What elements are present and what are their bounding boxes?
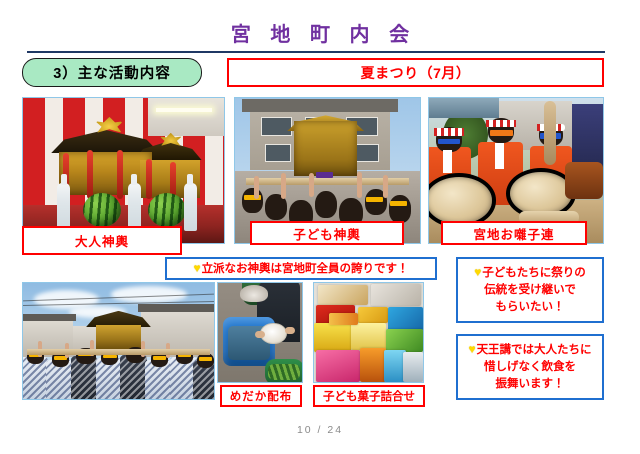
- slide-canvas: 宮 地 町 内 会 3）主な活動内容 夏まつり（7月）: [0, 0, 640, 454]
- photo-adult-mikoshi-art: [23, 98, 224, 243]
- heart-icon: ♥: [468, 342, 475, 356]
- callout-tradition: ♥子どもたちに祭りの 伝統を受け継いで もらいたい！: [456, 257, 604, 323]
- caption-medaka: めだか配布: [220, 385, 302, 407]
- caption-kids-mikoshi: 子ども神輿: [250, 221, 404, 245]
- callout-tennoko-line-2: 振舞います！: [496, 376, 565, 393]
- callout-pride: ♥立派なお神輿は宮地町全員の誇りです！: [165, 257, 437, 280]
- caption-kids-mikoshi-label: 子ども神輿: [293, 224, 361, 243]
- caption-ohayashi-label: 宮地お囃子連: [473, 224, 554, 243]
- callout-tradition-line-0: ♥子どもたちに祭りの: [474, 264, 586, 282]
- heart-icon: ♥: [474, 265, 481, 279]
- callout-tennoko-line-1: 惜しげなく飲食を: [484, 359, 576, 376]
- title-divider: [27, 51, 605, 53]
- callout-tennoko: ♥天王講では大人たちに 惜しげなく飲食を 振舞います！: [456, 334, 604, 400]
- caption-medaka-label: めだか配布: [230, 388, 293, 404]
- photo-sweets-art: [314, 283, 423, 382]
- caption-sweets: 子ども菓子詰合せ: [313, 385, 425, 407]
- section-chip: 3）主な活動内容: [22, 58, 202, 87]
- photo-medaka: [217, 282, 303, 383]
- photo-adults-carry-art: [23, 283, 214, 399]
- topic-banner: 夏まつり（7月）: [227, 58, 604, 87]
- photo-medaka-art: [218, 283, 302, 382]
- callout-tennoko-line-0: ♥天王講では大人たちに: [468, 341, 591, 359]
- caption-sweets-label: 子ども菓子詰合せ: [323, 388, 415, 404]
- callout-tradition-line-2: もらいたい！: [496, 299, 565, 316]
- section-chip-label: 3）主な活動内容: [53, 62, 171, 83]
- photo-adults-carry: [22, 282, 215, 400]
- caption-ohayashi: 宮地お囃子連: [441, 221, 587, 245]
- caption-adult-mikoshi: 大人神輿: [22, 226, 182, 255]
- photo-adult-mikoshi: [22, 97, 225, 244]
- topic-banner-label: 夏まつり（7月）: [361, 63, 471, 83]
- page-title: 宮 地 町 内 会: [0, 18, 640, 47]
- callout-pride-line-0: ♥立派なお神輿は宮地町全員の誇りです！: [193, 260, 408, 278]
- callout-tradition-line-1: 伝統を受け継いで: [484, 282, 576, 299]
- heart-icon: ♥: [193, 261, 200, 275]
- caption-adult-mikoshi-label: 大人神輿: [75, 231, 129, 250]
- page-number: 10 / 24: [0, 424, 640, 436]
- photo-sweets: [313, 282, 424, 383]
